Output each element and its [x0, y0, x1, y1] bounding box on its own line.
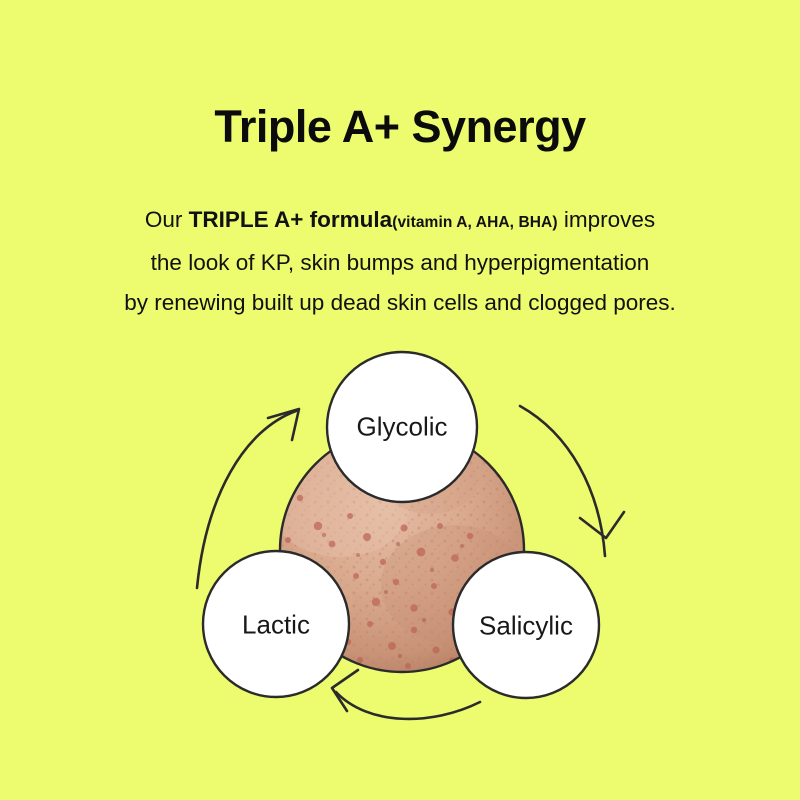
description-lead: Our	[145, 207, 189, 232]
arrow-salicylic-to-lactic	[332, 670, 480, 719]
triple-a-cycle-diagram: Glycolic Lactic Salicylic	[0, 330, 800, 750]
arrow-glycolic-to-salicylic	[520, 406, 624, 556]
description-bold-formula: TRIPLE A+ formula	[189, 207, 393, 232]
node-label-salicylic: Salicylic	[479, 611, 573, 642]
node-label-glycolic: Glycolic	[356, 412, 447, 443]
infographic-canvas: Triple A+ Synergy Our TRIPLE A+ formula(…	[0, 0, 800, 800]
description-tail: improves	[558, 207, 656, 232]
description-line-1: Our TRIPLE A+ formula(vitamin A, AHA, BH…	[0, 200, 800, 243]
description-line-3: by renewing built up dead skin cells and…	[0, 283, 800, 323]
description-line-2: the look of KP, skin bumps and hyperpigm…	[0, 243, 800, 283]
description-ingredients-paren: (vitamin A, AHA, BHA)	[392, 214, 557, 231]
description-block: Our TRIPLE A+ formula(vitamin A, AHA, BH…	[0, 200, 800, 323]
node-label-lactic: Lactic	[242, 610, 310, 641]
page-title: Triple A+ Synergy	[0, 103, 800, 150]
cycle-graphic	[0, 330, 800, 750]
